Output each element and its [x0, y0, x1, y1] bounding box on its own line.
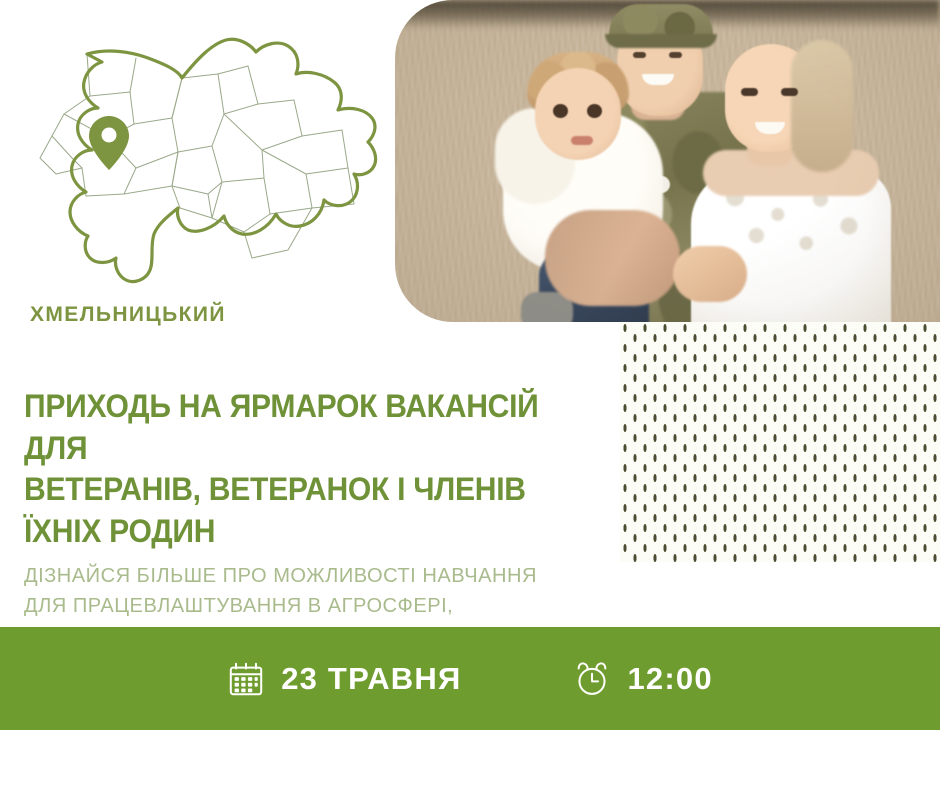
headline: ПРИХОДЬ НА ЯРМАРОК ВАКАНСІЙ ДЛЯ ВЕТЕРАНІ…	[24, 386, 569, 552]
map-pin-icon	[89, 116, 129, 170]
ukraine-map	[12, 18, 382, 298]
event-date-value: 23 ТРАВНЯ	[281, 661, 461, 697]
photo-stage	[395, 0, 940, 322]
photo-vignette	[395, 0, 940, 322]
event-date: 23 ТРАВНЯ	[227, 660, 461, 698]
event-time: 12:00	[573, 660, 712, 698]
copy-block: ПРИХОДЬ НА ЯРМАРОК ВАКАНСІЙ ДЛЯ ВЕТЕРАНІ…	[24, 386, 604, 650]
event-time-value: 12:00	[627, 661, 712, 697]
calendar-icon	[227, 660, 265, 698]
dot-pattern-decoration	[620, 322, 940, 562]
poster-root: ХМЕЛЬНИЦЬКИЙ ПРИХОДЬ НА ЯРМАРОК ВАКАНСІЙ…	[0, 0, 940, 788]
map-oblast-borders	[40, 54, 354, 258]
region-label: ХМЕЛЬНИЦЬКИЙ	[30, 303, 226, 327]
family-photo	[395, 0, 940, 322]
event-details-bar: 23 ТРАВНЯ 12:00	[0, 627, 940, 730]
alarm-clock-icon	[573, 660, 611, 698]
